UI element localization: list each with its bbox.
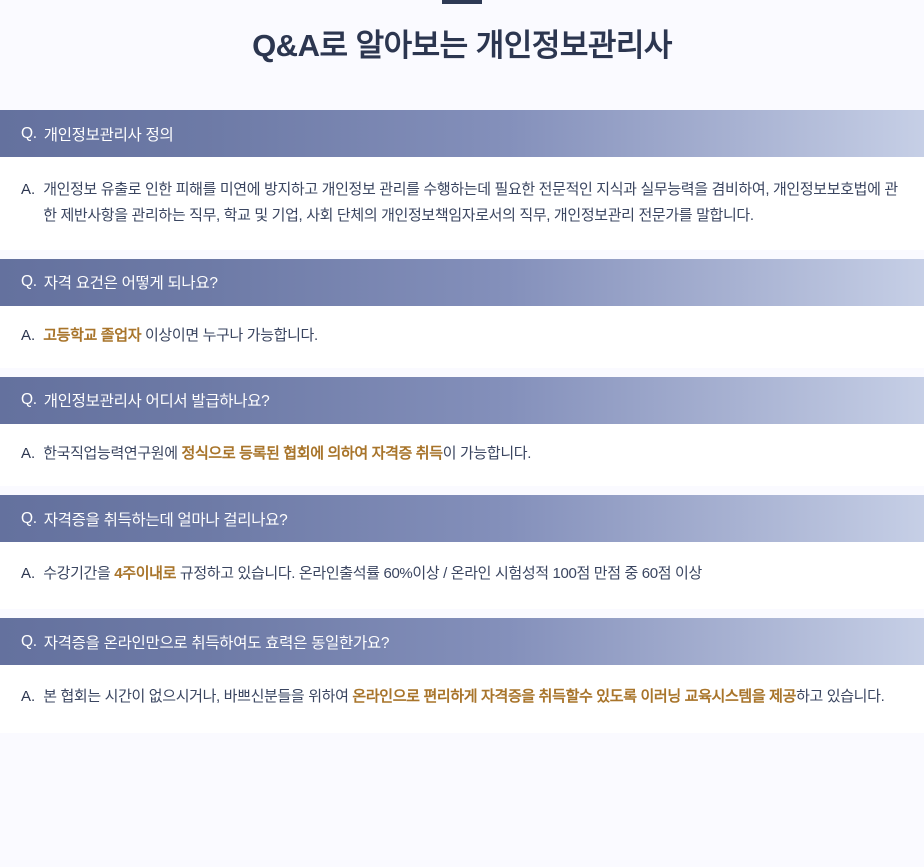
answer-text: 수강기간을 4주이내로 규정하고 있습니다. 온라인출석률 60%이상 / 온라… xyxy=(43,561,898,587)
answer-plain: 이상이면 누구나 가능합니다. xyxy=(141,327,318,344)
question-marker: Q. xyxy=(21,391,37,409)
answer-plain: 본 협회는 시간이 없으시거나, 바쁘신분들을 위하여 xyxy=(43,688,352,705)
answer-text: 한국직업능력연구원에 정식으로 등록된 협회에 의하여 자격증 취득이 가능합니… xyxy=(43,441,898,467)
answer-plain: 수강기간을 xyxy=(43,565,114,582)
qa-answer-panel: A.한국직업능력연구원에 정식으로 등록된 협회에 의하여 자격증 취득이 가능… xyxy=(0,424,924,486)
answer-marker: A. xyxy=(21,441,35,467)
qa-item: Q.자격 요건은 어떻게 되나요?A.고등학교 졸업자 이상이면 누구나 가능합… xyxy=(0,259,924,368)
qa-item: Q.자격증을 온라인만으로 취득하여도 효력은 동일한가요?A.본 협회는 시간… xyxy=(0,618,924,732)
qa-page: Q&A로 알아보는 개인정보관리사 Q.개인정보관리사 정의A.개인정보 유출로… xyxy=(0,0,924,867)
page-header: Q&A로 알아보는 개인정보관리사 xyxy=(0,0,924,110)
answer-text: 개인정보 유출로 인한 피해를 미연에 방지하고 개인정보 관리를 수행하는데 … xyxy=(43,177,898,230)
answer-text: 고등학교 졸업자 이상이면 누구나 가능합니다. xyxy=(43,323,898,349)
question-marker: Q. xyxy=(21,510,37,528)
answer-marker: A. xyxy=(21,323,35,349)
answer-highlight: 고등학교 졸업자 xyxy=(43,327,141,344)
question-marker: Q. xyxy=(21,633,37,651)
answer-highlight: 4주이내로 xyxy=(114,565,176,582)
qa-question-header[interactable]: Q.자격증을 취득하는데 얼마나 걸리나요? xyxy=(0,495,924,542)
answer-plain: 이 가능합니다. xyxy=(443,445,531,462)
qa-question-header[interactable]: Q.개인정보관리사 정의 xyxy=(0,110,924,157)
answer-marker: A. xyxy=(21,684,35,710)
qa-answer-panel: A.개인정보 유출로 인한 피해를 미연에 방지하고 개인정보 관리를 수행하는… xyxy=(0,157,924,250)
question-text: 자격증을 온라인만으로 취득하여도 효력은 동일한가요? xyxy=(44,631,389,653)
qa-question-header[interactable]: Q.자격증을 온라인만으로 취득하여도 효력은 동일한가요? xyxy=(0,618,924,665)
answer-plain: 한국직업능력연구원에 xyxy=(43,445,181,462)
qa-question-header[interactable]: Q.개인정보관리사 어디서 발급하나요? xyxy=(0,377,924,424)
qa-answer-panel: A.수강기간을 4주이내로 규정하고 있습니다. 온라인출석률 60%이상 / … xyxy=(0,542,924,609)
qa-answer-panel: A.고등학교 졸업자 이상이면 누구나 가능합니다. xyxy=(0,306,924,368)
qa-list: Q.개인정보관리사 정의A.개인정보 유출로 인한 피해를 미연에 방지하고 개… xyxy=(0,110,924,733)
question-text: 자격 요건은 어떻게 되나요? xyxy=(44,271,218,293)
answer-plain: 규정하고 있습니다. 온라인출석률 60%이상 / 온라인 시험성적 100점 … xyxy=(176,565,702,582)
qa-question-header[interactable]: Q.자격 요건은 어떻게 되나요? xyxy=(0,259,924,306)
qa-answer-panel: A.본 협회는 시간이 없으시거나, 바쁘신분들을 위하여 온라인으로 편리하게… xyxy=(0,665,924,732)
answer-marker: A. xyxy=(21,177,35,203)
question-marker: Q. xyxy=(21,273,37,291)
answer-plain: 개인정보 유출로 인한 피해를 미연에 방지하고 개인정보 관리를 수행하는데 … xyxy=(43,181,898,224)
page-title: Q&A로 알아보는 개인정보관리사 xyxy=(0,27,924,66)
answer-plain: 하고 있습니다. xyxy=(796,688,884,705)
question-text: 자격증을 취득하는데 얼마나 걸리나요? xyxy=(44,508,288,530)
qa-item: Q.개인정보관리사 정의A.개인정보 유출로 인한 피해를 미연에 방지하고 개… xyxy=(0,110,924,250)
question-marker: Q. xyxy=(21,125,37,143)
answer-highlight: 온라인으로 편리하게 자격증을 취득할수 있도록 이러닝 교육시스템을 제공 xyxy=(352,688,796,705)
qa-item: Q.자격증을 취득하는데 얼마나 걸리나요?A.수강기간을 4주이내로 규정하고… xyxy=(0,495,924,609)
title-divider xyxy=(442,0,482,4)
question-text: 개인정보관리사 정의 xyxy=(44,123,174,145)
qa-item: Q.개인정보관리사 어디서 발급하나요?A.한국직업능력연구원에 정식으로 등록… xyxy=(0,377,924,486)
answer-highlight: 정식으로 등록된 협회에 의하여 자격증 취득 xyxy=(182,445,443,462)
question-text: 개인정보관리사 어디서 발급하나요? xyxy=(44,389,270,411)
answer-marker: A. xyxy=(21,561,35,587)
answer-text: 본 협회는 시간이 없으시거나, 바쁘신분들을 위하여 온라인으로 편리하게 자… xyxy=(43,684,898,710)
